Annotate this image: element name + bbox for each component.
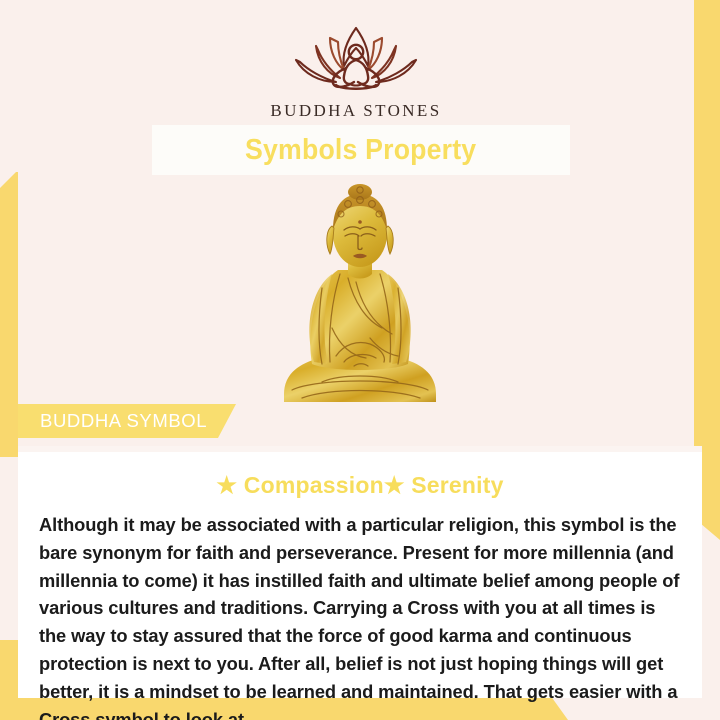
symbol-tag-label: BUDDHA SYMBOL bbox=[40, 410, 207, 432]
content-body-text: Although it may be associated with a par… bbox=[39, 511, 684, 720]
content-card: ★ Compassion★ Serenity Although it may b… bbox=[18, 452, 702, 698]
title-banner: Symbols Property bbox=[152, 125, 570, 175]
symbol-tag: BUDDHA SYMBOL bbox=[18, 404, 236, 438]
page-root: BUDDHA STONES Symbols Property bbox=[0, 0, 720, 720]
lotus-meditation-icon bbox=[280, 22, 432, 97]
hero-image bbox=[0, 178, 720, 410]
content-subtitle: ★ Compassion★ Serenity bbox=[28, 472, 692, 499]
brand-logo: BUDDHA STONES bbox=[18, 22, 694, 121]
brand-name: BUDDHA STONES bbox=[270, 101, 441, 121]
seated-golden-buddha-statue-icon bbox=[270, 178, 450, 410]
page-title: Symbols Property bbox=[245, 134, 476, 167]
